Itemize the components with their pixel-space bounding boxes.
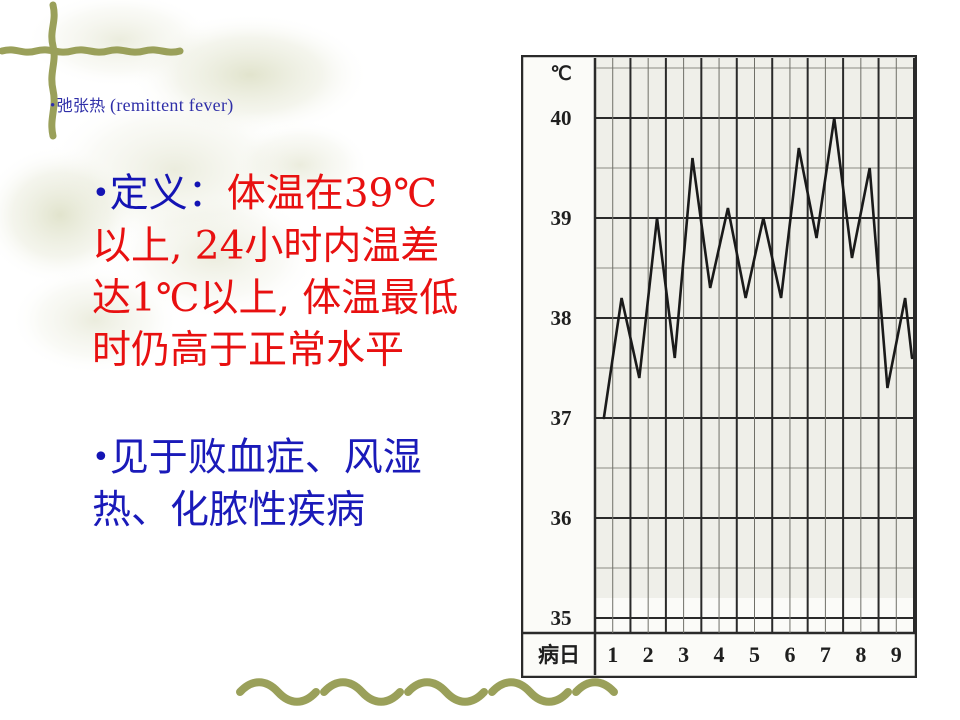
temperature-chart-svg: 403938373635 123456789 ℃ 病日 <box>521 55 917 678</box>
definition-line-4: 时仍高于正常水平 <box>92 328 404 373</box>
chart-y-tick-label: 37 <box>551 406 572 430</box>
indication-paragraph: •见于败血症、风湿 热、化脓性疾病 <box>92 432 512 537</box>
definition-line-2: 以上, 24小时内温差 <box>92 224 439 269</box>
bullet-icon: • <box>50 98 56 114</box>
chart-x-tick-label: 9 <box>891 642 902 667</box>
bullet-icon: • <box>92 440 110 475</box>
chart-x-tick-label: 8 <box>855 642 866 667</box>
bullet-icon: • <box>92 176 110 211</box>
chart-y-tick-label: 39 <box>551 206 572 230</box>
definition-line-1: 体温在39℃ <box>227 172 437 217</box>
heading-chinese: 弛张热 <box>57 96 106 115</box>
heading-english: (remittent fever) <box>110 95 234 115</box>
chart-y-tick-label: 36 <box>551 506 572 530</box>
chart-y-tick-label: 38 <box>551 306 572 330</box>
chart-unit-label: ℃ <box>550 64 571 85</box>
indication-line-2: 热、化脓性疾病 <box>92 488 365 533</box>
definition-line-3: 达1℃以上, 体温最低 <box>92 276 458 321</box>
chart-x-tick-label: 7 <box>820 642 831 667</box>
indication-line-1: 见于败血症、风湿 <box>110 436 422 481</box>
temperature-chart: 403938373635 123456789 ℃ 病日 <box>521 55 917 678</box>
page-title: •弛张热 (remittent fever) <box>50 92 234 116</box>
chart-x-axis-title: 病日 <box>538 642 580 667</box>
definition-label: 定义： <box>110 172 227 217</box>
chart-x-tick-labels: 123456789 <box>607 642 902 667</box>
chart-x-tick-label: 4 <box>714 642 725 667</box>
slide-text-column: •弛张热 (remittent fever) •定义：体温在39℃ 以上, 24… <box>0 0 510 720</box>
chart-y-tick-label: 40 <box>551 106 572 130</box>
chart-x-tick-label: 2 <box>643 642 654 667</box>
chart-y-tick-label: 35 <box>551 606 572 630</box>
chart-x-tick-label: 6 <box>784 642 795 667</box>
definition-paragraph: •定义：体温在39℃ 以上, 24小时内温差 达1℃以上, 体温最低 时仍高于正… <box>92 168 512 377</box>
chart-x-tick-label: 5 <box>749 642 760 667</box>
chart-x-tick-label: 1 <box>607 642 618 667</box>
chart-x-tick-label: 3 <box>678 642 689 667</box>
